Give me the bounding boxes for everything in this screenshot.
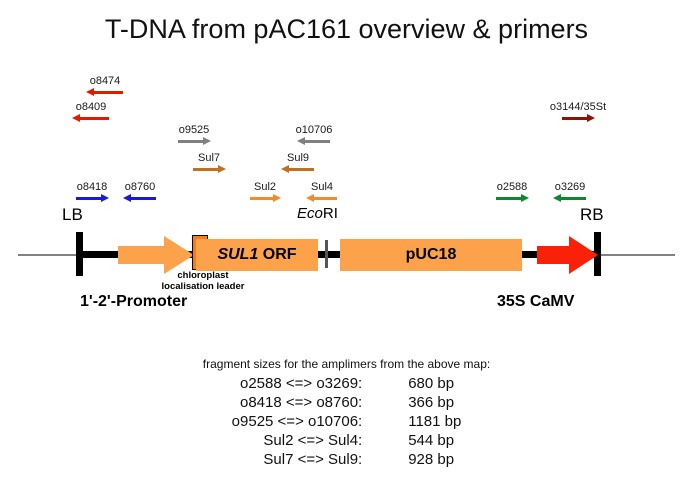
feature-puc18: pUC18 [340,239,522,271]
right-border-label: RB [580,205,604,225]
primer-arrow-right-icon [178,137,210,146]
fragment-pair: o2588 <=> o3269: [232,374,409,393]
table-row: Sul7 <=> Sul9: 928 bp [232,450,462,469]
primer-label-o8474: o8474 [78,75,132,87]
primer-label-sul4: Sul4 [300,181,344,193]
primer-annotation-sul7: Sul7 [185,152,233,174]
fragment-size: 366 bp [408,393,461,412]
primer-arrow-left-icon [73,114,109,123]
feature-sul1-plain: ORF [258,246,296,263]
fragment-pair: o8418 <=> o8760: [232,393,409,412]
table-row: o2588 <=> o3269: 680 bp [232,374,462,393]
left-border-label: LB [62,205,83,225]
feature-sul1-italic: SUL1 [217,246,258,263]
ecori-site-tick [325,240,328,268]
primer-annotation-o9525: o9525 [168,124,220,146]
feature-sul1-orf: SUL1 ORF [196,239,318,271]
chloroplast-leader-line1: chloroplast [177,270,228,281]
primer-annotation-o3144-35st: o3144/35St [537,101,619,123]
primer-label-o8409: o8409 [64,101,118,113]
fragment-pair: Sul7 <=> Sul9: [232,450,409,469]
fragment-size: 928 bp [408,450,461,469]
primer-annotation-sul2: Sul2 [243,181,287,203]
fragment-pair: Sul2 <=> Sul4: [232,431,409,450]
fragment-size: 680 bp [408,374,461,393]
page-title: T-DNA from pAC161 overview & primers [0,14,693,45]
primer-label-o8418: o8418 [68,181,116,193]
primer-label-sul2: Sul2 [243,181,287,193]
chloroplast-leader-label: chloroplast localisation leader [141,270,265,292]
primer-annotation-o10706: o10706 [286,124,342,146]
promoter-arrow-icon [118,236,194,274]
primer-arrow-right-icon [496,194,528,203]
fragment-size: 544 bp [408,431,461,450]
ecori-plain-part: RI [323,205,338,222]
chloroplast-leader-line2: localisation leader [162,281,245,292]
ecori-site-label: EcoRI [297,205,338,222]
primer-label-o2588: o2588 [488,181,536,193]
primer-annotation-o8474: o8474 [78,75,132,97]
primer-arrow-right-icon [193,165,225,174]
primer-annotation-sul9: Sul9 [274,152,322,174]
primer-label-o8760: o8760 [116,181,164,193]
primer-annotation-o8760: o8760 [116,181,164,203]
camv-terminator-label: 35S CaMV [497,293,574,311]
table-row: Sul2 <=> Sul4: 544 bp [232,431,462,450]
primer-annotation-sul4: Sul4 [300,181,344,203]
primer-arrow-right-icon [76,194,108,203]
primer-annotation-o3269: o3269 [546,181,594,203]
primer-label-o10706: o10706 [286,124,342,136]
primer-arrow-right-icon [562,114,594,123]
primer-arrow-left-icon [282,165,314,174]
primer-label-sul7: Sul7 [185,152,233,164]
ecori-italic-part: Eco [297,205,323,222]
table-row: o9525 <=> o10706: 1181 bp [232,412,462,431]
table-row: o8418 <=> o8760: 366 bp [232,393,462,412]
primer-arrow-left-icon [554,194,586,203]
primer-annotation-o8409: o8409 [64,101,118,123]
feature-sul1-orf-label: SUL1 ORF [196,239,318,271]
primer-annotation-o8418: o8418 [68,181,116,203]
fragment-pair: o9525 <=> o10706: [232,412,409,431]
primer-label-sul9: Sul9 [274,152,322,164]
fragment-sizes-section: fragment sizes for the amplimers from th… [0,357,693,469]
camv-terminator-arrow-icon [537,236,597,274]
feature-puc18-label: pUC18 [340,239,522,271]
primer-label-o9525: o9525 [168,124,220,136]
fragment-sizes-table: o2588 <=> o3269: 680 bp o8418 <=> o8760:… [232,374,462,469]
primer-annotation-o2588: o2588 [488,181,536,203]
primer-label-o3144-35st: o3144/35St [537,101,619,113]
primer-arrow-right-icon [250,194,280,203]
primer-arrow-left-icon [298,137,330,146]
promoter-label: 1'-2'-Promoter [80,293,187,311]
left-border-tick [76,232,83,276]
fragment-sizes-caption: fragment sizes for the amplimers from th… [0,357,693,371]
primer-label-o3269: o3269 [546,181,594,193]
primer-arrow-left-icon [87,88,123,97]
primer-arrow-left-icon [124,194,156,203]
fragment-size: 1181 bp [408,412,461,431]
primer-arrow-left-icon [307,194,337,203]
